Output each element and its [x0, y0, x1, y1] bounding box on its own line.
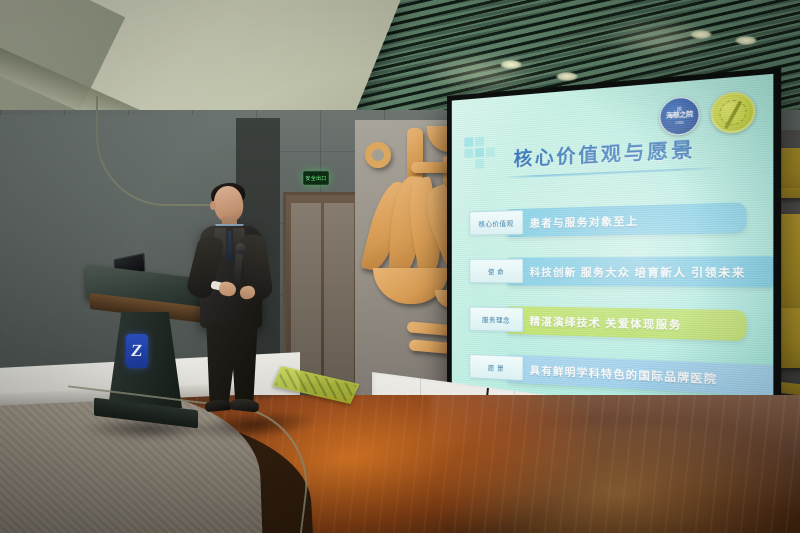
slide-row: 精湛演绎技术 关爱体现服务 服务理念 — [469, 303, 753, 342]
ceiling-downlight — [690, 30, 712, 39]
presenter-shoe-right — [229, 398, 259, 413]
blue-logo-year: 1956 — [675, 120, 683, 125]
relief-ring-shape — [365, 142, 391, 168]
ceiling-light-glow — [420, 52, 540, 92]
podium-logo-label: Z — [130, 341, 143, 361]
exit-sign-label: 安全出口 — [305, 175, 326, 182]
slide-rows: 患者与服务对象至上 核心价值观 科技创新 服务大众 培育新人 引领未来 使 命 … — [469, 200, 753, 416]
relief-bar-shape — [407, 128, 423, 182]
presenter — [186, 186, 276, 421]
slide-row-label: 使 命 — [469, 259, 523, 284]
presenter-shoe-left — [205, 399, 233, 412]
ceiling-downlight — [556, 72, 578, 81]
conference-room-photo: 安全出口 — [0, 0, 800, 533]
slide-logos: ⊞ 海慈之院 1956 — [659, 90, 755, 137]
exit-sign: 安全出口 — [303, 171, 329, 185]
podium-logo: Z — [126, 334, 148, 368]
slide-row-text: 具有鲜明学科特色的国际品牌医院 — [507, 354, 773, 396]
slide-row-text: 科技创新 服务大众 培育新人 引领未来 — [507, 255, 773, 286]
presenter-trousers — [204, 322, 260, 404]
slide-row-label: 服务理念 — [469, 306, 523, 332]
slide-row: 科技创新 服务大众 培育新人 引领未来 使 命 — [469, 254, 753, 289]
ceiling-downlight — [500, 60, 522, 69]
ceiling-downlight — [735, 36, 757, 45]
slide-row-text: 患者与服务对象至上 — [507, 202, 747, 237]
floor-warm-light-pool-secondary — [430, 425, 800, 533]
slide-row-label: 核心价值观 — [469, 210, 523, 236]
door-pane-right — [324, 203, 354, 383]
presenter-ear — [210, 201, 216, 210]
slide-row-text: 精湛演绎技术 关爱体现服务 — [507, 306, 747, 341]
slide-row-label: 愿 景 — [469, 354, 523, 381]
slide-row: 患者与服务对象至上 核心价值观 — [469, 200, 753, 239]
gold-circle-logo — [711, 90, 756, 134]
blue-circle-logo: ⊞ 海慈之院 1956 — [659, 96, 699, 137]
